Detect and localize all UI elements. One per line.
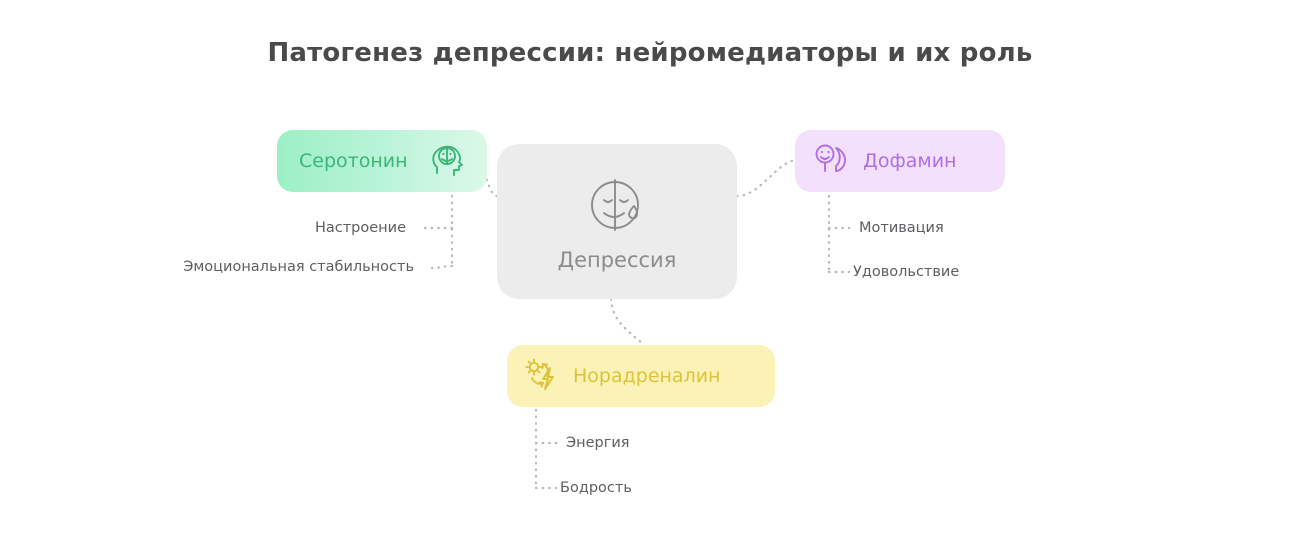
sub-label-serotonin-2: Эмоциональная стабильность <box>183 259 414 275</box>
connector-serotonin-child-2 <box>432 266 452 268</box>
page-title: Патогенез депрессии: нейромедиаторы и их… <box>0 38 1300 68</box>
node-noradrenalin[interactable]: Норадреналин <box>507 345 775 407</box>
sub-label-noradrenalin-2: Бодрость <box>560 480 632 496</box>
node-noradrenalin-label: Норадреналин <box>573 365 720 387</box>
connector-center-noradrenalin <box>611 299 644 345</box>
sub-label-serotonin-1: Настроение <box>315 220 406 236</box>
sun-lightning-icon <box>521 356 561 396</box>
node-serotonin-label: Серотонин <box>299 150 408 172</box>
node-dopamine-label: Дофамин <box>863 150 956 172</box>
center-node-label: Депрессия <box>558 248 677 272</box>
sub-label-dopamine-2: Удовольствие <box>853 264 959 280</box>
mindmap-canvas: Патогенез депрессии: нейромедиаторы и их… <box>0 0 1300 546</box>
head-smiley-icon <box>811 141 851 181</box>
sub-label-dopamine-1: Мотивация <box>859 220 944 236</box>
node-dopamine[interactable]: Дофамин <box>795 130 1005 192</box>
head-face-icon <box>429 141 469 181</box>
split-face-sad-happy-icon <box>584 172 650 238</box>
node-serotonin[interactable]: Серотонин <box>277 130 487 192</box>
sub-label-noradrenalin-1: Энергия <box>566 435 630 451</box>
connector-center-dopamine <box>737 160 795 196</box>
node-depression[interactable]: Депрессия <box>497 144 737 299</box>
